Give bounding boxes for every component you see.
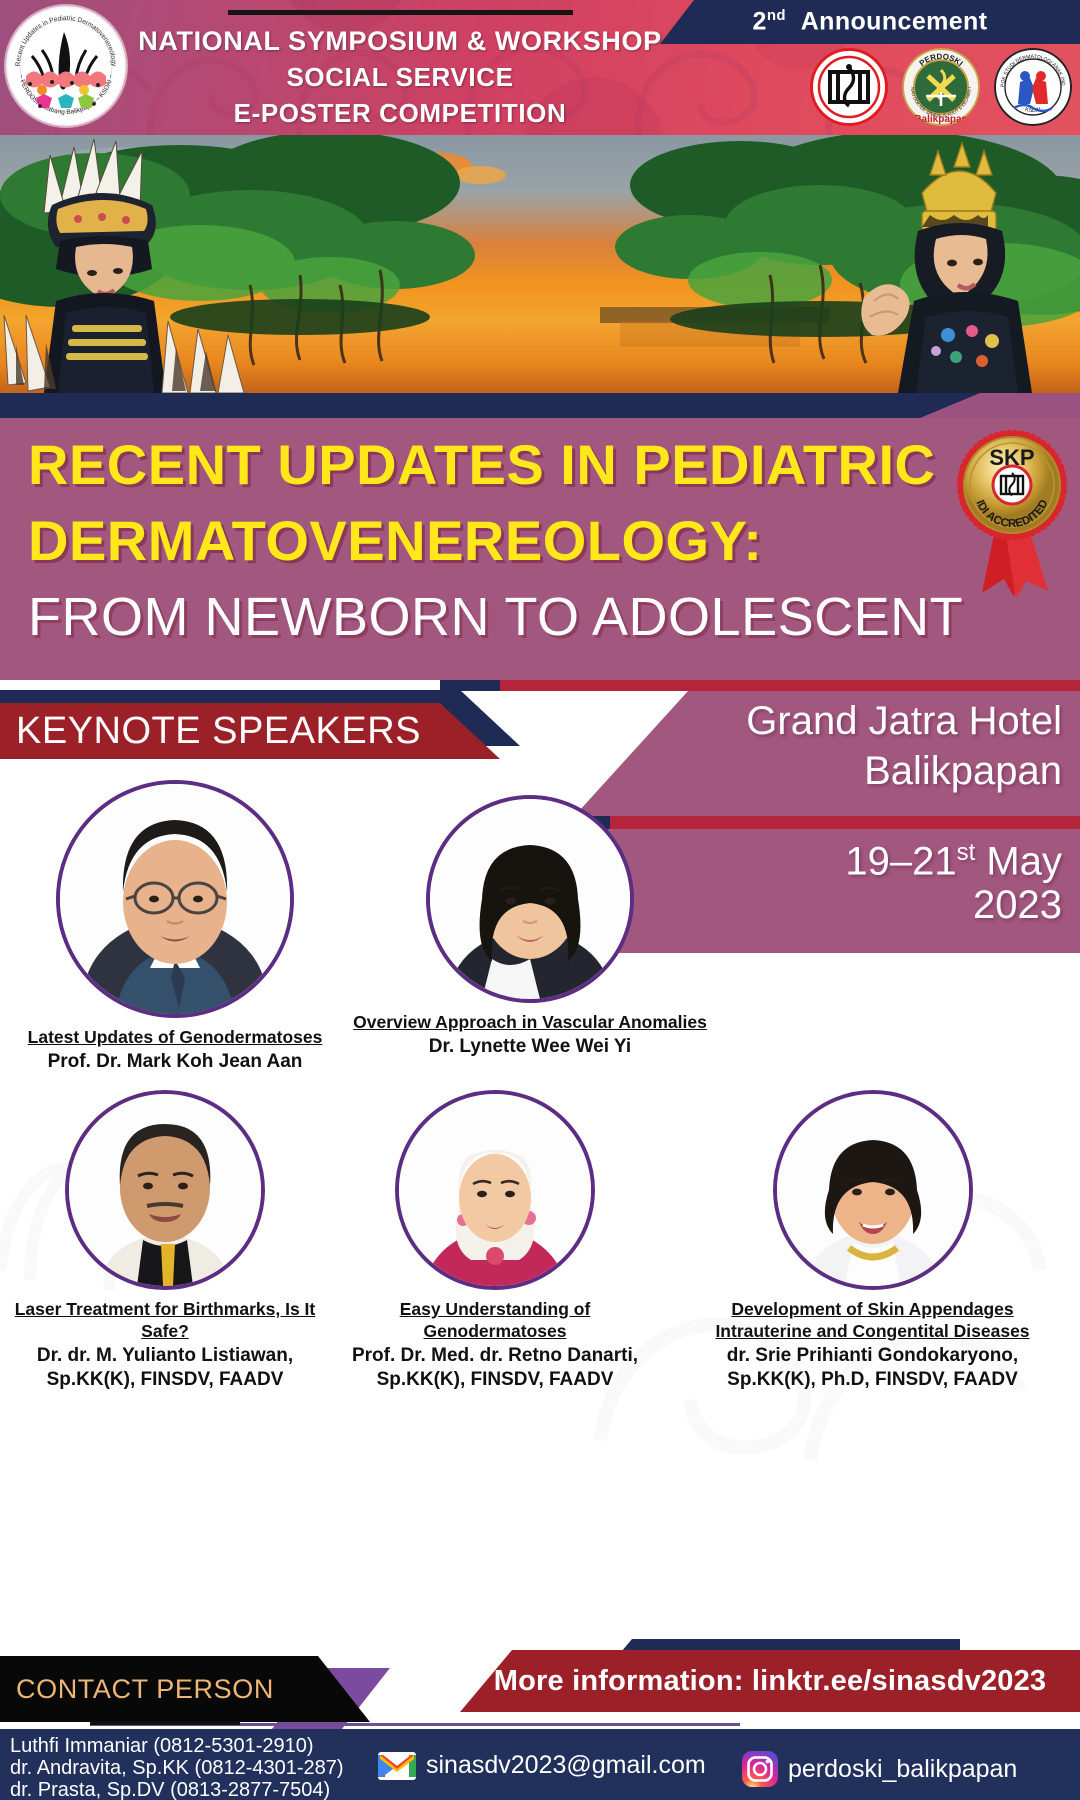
speaker-topic-2: Overview Approach in Vascular Anomalies bbox=[330, 1011, 730, 1033]
speaker-card-2: Overview Approach in Vascular Anomalies … bbox=[330, 795, 730, 1059]
ksdai-logo: KELOMPOK STUDI DERMATOLOGI ANAK INDONESI… bbox=[994, 48, 1072, 126]
perdoski-logo: PERDOSKI PERHIMPUNAN DOKTER SPESIALIS KU… bbox=[902, 48, 980, 126]
photo-dancer-right bbox=[830, 135, 1080, 393]
header-title-line1: NATIONAL SYMPOSIUM & WORKSHOP bbox=[130, 23, 670, 59]
hero-photo-band bbox=[0, 135, 1080, 393]
speaker-name-3: Dr. dr. M. Yulianto Listiawan, Sp.KK(K),… bbox=[0, 1344, 330, 1392]
announcement-tab: 2nd Announcement bbox=[660, 0, 1080, 44]
speaker-card-4: Easy Understanding of Genodermatoses Pro… bbox=[330, 1090, 660, 1392]
speaker-photo-m-yulianto-listiawan bbox=[65, 1090, 265, 1290]
poster-header: Recent Updates in Pediatric Dermatovener… bbox=[0, 0, 1080, 135]
speaker-name-4: Prof. Dr. Med. dr. Retno Danarti, Sp.KK(… bbox=[330, 1344, 660, 1392]
main-title-line2: DERMATOVENEREOLOGY: bbox=[28, 508, 762, 573]
main-title-line3: FROM NEWBORN TO ADOLESCENT bbox=[28, 586, 963, 648]
venue-date-range: 19–21 bbox=[845, 839, 956, 883]
main-title-block: RECENT UPDATES IN PEDIATRIC DERMATOVENER… bbox=[0, 418, 1080, 680]
email-block[interactable]: sinasdv2023@gmail.com bbox=[378, 1751, 706, 1780]
skp-idi-accredited-badge: SKP IDI ACCREDITED bbox=[952, 423, 1072, 598]
instagram-handle[interactable]: perdoski_balikpapan bbox=[788, 1755, 1017, 1784]
venue-hotel-line1: Grand Jatra Hotel bbox=[746, 696, 1062, 746]
footer-bar: Luthfi Immaniar (0812-5301-2910) dr. And… bbox=[0, 1729, 1080, 1800]
venue-stripe-top bbox=[440, 680, 1080, 691]
speaker-name-1: Prof. Dr. Mark Koh Jean Aan bbox=[0, 1050, 350, 1074]
event-logo: Recent Updates in Pediatric Dermatovener… bbox=[6, 6, 126, 126]
speaker-topic-3: Laser Treatment for Birthmarks, Is It Sa… bbox=[0, 1298, 330, 1342]
speaker-topic-4: Easy Understanding of Genodermatoses bbox=[330, 1298, 660, 1342]
more-info-banner: More information: linktr.ee/sinasdv2023 bbox=[460, 1650, 1080, 1712]
venue-date-month: May bbox=[975, 839, 1062, 883]
header-top-rule bbox=[228, 10, 573, 15]
contact-list: Luthfi Immaniar (0812-5301-2910) dr. And… bbox=[10, 1735, 344, 1800]
header-title-line3: E-POSTER COMPETITION bbox=[130, 95, 670, 131]
venue-date-year: 2023 bbox=[973, 880, 1062, 930]
title-navy-band bbox=[0, 393, 1080, 418]
speaker-topic-5: Development of Skin Appendages Intrauter… bbox=[665, 1298, 1080, 1342]
contact-line-3: dr. Prasta, Sp.DV (0813-2877-7504) bbox=[10, 1779, 344, 1800]
contact-line-1: Luthfi Immaniar (0812-5301-2910) bbox=[10, 1735, 344, 1757]
svg-text:Balikpapan: Balikpapan bbox=[914, 114, 967, 125]
instagram-block[interactable]: perdoski_balikpapan bbox=[742, 1751, 1017, 1787]
speaker-photo-srie-prihianti-gondokaryono bbox=[773, 1090, 973, 1290]
photo-dancer-left bbox=[0, 135, 290, 393]
speaker-topic-1: Latest Updates of Genodermatoses bbox=[0, 1026, 350, 1048]
contact-person-label: CONTACT PERSON bbox=[0, 1674, 274, 1705]
speaker-card-1: Latest Updates of Genodermatoses Prof. D… bbox=[0, 780, 350, 1074]
venue-date: 19–21st May bbox=[845, 828, 1062, 886]
header-title-block: NATIONAL SYMPOSIUM & WORKSHOP SOCIAL SER… bbox=[130, 8, 670, 135]
header-title-line2: SOCIAL SERVICE bbox=[130, 59, 670, 95]
speaker-card-3: Laser Treatment for Birthmarks, Is It Sa… bbox=[0, 1090, 330, 1392]
poster-root: Recent Updates in Pediatric Dermatovener… bbox=[0, 0, 1080, 1800]
speaker-photo-lynette-wee-wei-yi bbox=[426, 795, 634, 1003]
more-info-text[interactable]: More information: linktr.ee/sinasdv2023 bbox=[494, 1665, 1047, 1698]
speaker-photo-mark-koh-jean-aan bbox=[56, 780, 294, 1018]
announcement-ordinal: 2 bbox=[753, 8, 767, 36]
keynote-banner: KEYNOTE SPEAKERS bbox=[0, 703, 500, 759]
email-text[interactable]: sinasdv2023@gmail.com bbox=[426, 1751, 706, 1780]
venue-hotel-line2: Balikpapan bbox=[864, 746, 1062, 796]
header-logo-group: PERDOSKI PERHIMPUNAN DOKTER SPESIALIS KU… bbox=[810, 48, 1072, 126]
contact-line-2: dr. Andravita, Sp.KK (0812-4301-287) bbox=[10, 1757, 344, 1779]
contact-divider-line-dark bbox=[90, 1721, 240, 1725]
announcement-label: Announcement bbox=[801, 8, 988, 36]
speaker-name-2: Dr. Lynette Wee Wei Yi bbox=[330, 1035, 730, 1059]
main-title-line1: RECENT UPDATES IN PEDIATRIC bbox=[28, 432, 935, 497]
middle-section: Grand Jatra Hotel Balikpapan 19–21st May… bbox=[0, 680, 1080, 1620]
contact-person-banner: CONTACT PERSON bbox=[0, 1656, 370, 1722]
speaker-card-5: Development of Skin Appendages Intrauter… bbox=[665, 1090, 1080, 1392]
idi-logo bbox=[810, 48, 888, 126]
gmail-icon bbox=[378, 1752, 416, 1780]
speaker-photo-retno-danarti bbox=[395, 1090, 595, 1290]
speaker-name-5: dr. Srie Prihianti Gondokaryono, Sp.KK(K… bbox=[665, 1344, 1080, 1392]
announcement-ordinal-suffix: nd bbox=[767, 7, 786, 24]
keynote-heading: KEYNOTE SPEAKERS bbox=[0, 710, 421, 753]
instagram-icon bbox=[742, 1751, 778, 1787]
venue-date-ordinal: st bbox=[957, 839, 976, 866]
